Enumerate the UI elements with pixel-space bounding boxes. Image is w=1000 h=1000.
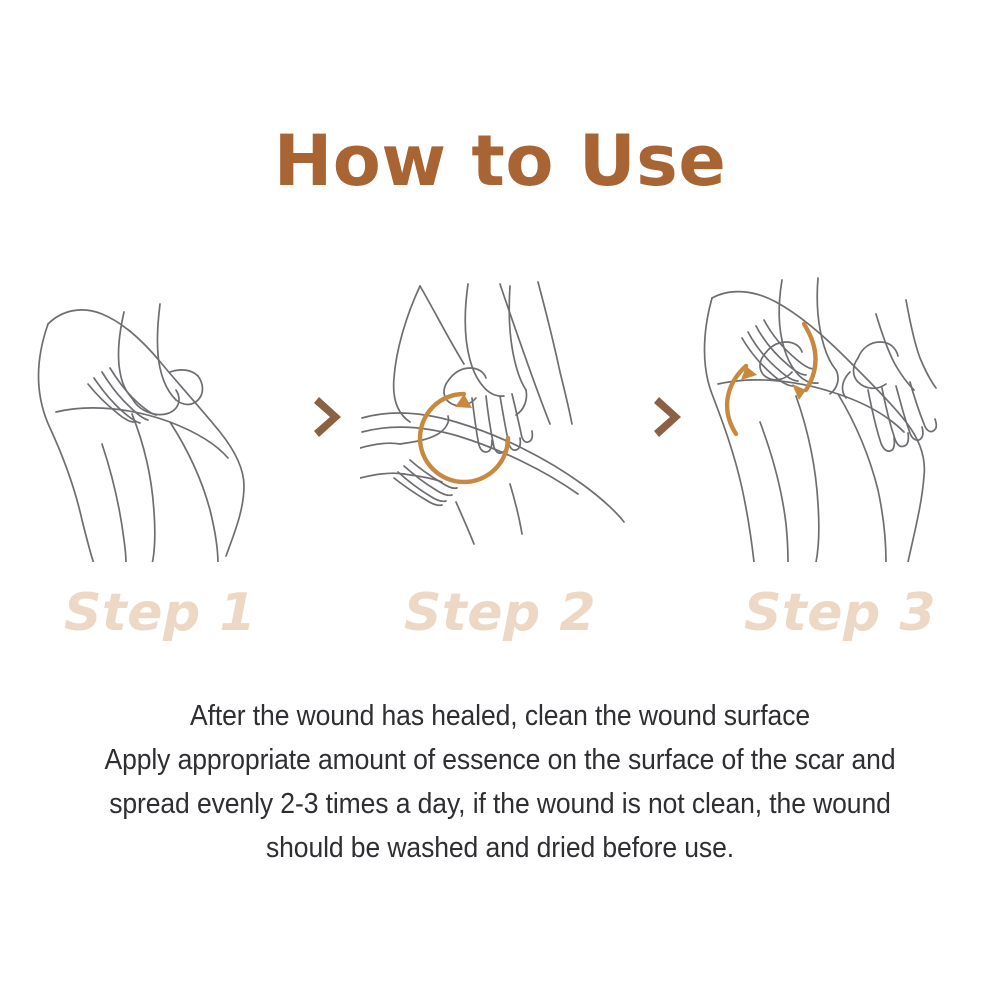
chevron-right-icon: [653, 394, 687, 440]
step-3-label: Step 3: [700, 586, 980, 641]
instruction-line-4: should be washed and dried before use.: [35, 826, 965, 870]
page-title: How to Use: [0, 126, 1000, 196]
step-captions-row: Step 1 Step 2 Step 3: [0, 578, 1000, 648]
step-3-illustration: [700, 272, 980, 562]
step-2-illustration: [360, 272, 640, 562]
instruction-line-2: Apply appropriate amount of essence on t…: [35, 738, 965, 782]
step-1-illustration: [20, 272, 300, 562]
instruction-line-1: After the wound has healed, clean the wo…: [35, 694, 965, 738]
step-separator-1: [300, 272, 360, 562]
chevron-right-icon: [313, 394, 347, 440]
instructions-text: After the wound has healed, clean the wo…: [0, 694, 1000, 870]
how-to-use-infographic: How to Use: [0, 0, 1000, 1000]
step-1-label: Step 1: [20, 586, 300, 641]
instruction-line-3: spread evenly 2-3 times a day, if the wo…: [35, 782, 965, 826]
step-2-label: Step 2: [360, 586, 640, 641]
step-separator-2: [640, 272, 700, 562]
steps-illustration-row: [0, 272, 1000, 562]
